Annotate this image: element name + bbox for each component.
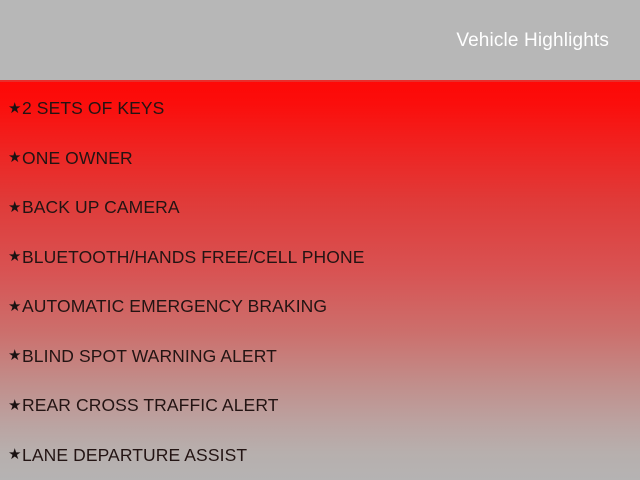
highlight-item-label: REAR CROSS TRAFFIC ALERT (22, 392, 279, 418)
highlight-item: ★ONE OWNER (0, 145, 133, 171)
highlight-item: ★BLUETOOTH/HANDS FREE/CELL PHONE (0, 244, 364, 270)
page-title: Vehicle Highlights (456, 29, 609, 53)
star-icon: ★ (0, 101, 22, 116)
highlight-item-label: ONE OWNER (22, 145, 133, 171)
star-icon: ★ (0, 249, 22, 264)
highlight-item-label: BLIND SPOT WARNING ALERT (22, 343, 277, 369)
highlight-item-label: AUTOMATIC EMERGENCY BRAKING (22, 293, 327, 319)
highlight-item: ★REAR CROSS TRAFFIC ALERT (0, 392, 279, 418)
star-icon: ★ (0, 348, 22, 363)
highlight-item-label: BACK UP CAMERA (22, 194, 180, 220)
star-icon: ★ (0, 200, 22, 215)
highlight-item: ★LANE DEPARTURE ASSIST (0, 442, 247, 468)
vehicle-highlights-slide: Vehicle Highlights ★2 SETS OF KEYS★ONE O… (0, 0, 640, 480)
highlight-item: ★BACK UP CAMERA (0, 194, 180, 220)
highlight-item-label: LANE DEPARTURE ASSIST (22, 442, 247, 468)
star-icon: ★ (0, 299, 22, 314)
highlight-item-label: BLUETOOTH/HANDS FREE/CELL PHONE (22, 244, 364, 270)
star-icon: ★ (0, 150, 22, 165)
highlight-item: ★2 SETS OF KEYS (0, 95, 164, 121)
highlight-item: ★AUTOMATIC EMERGENCY BRAKING (0, 293, 327, 319)
highlight-item: ★BLIND SPOT WARNING ALERT (0, 343, 277, 369)
header-band: Vehicle Highlights (0, 0, 640, 80)
highlight-item-label: 2 SETS OF KEYS (22, 95, 164, 121)
star-icon: ★ (0, 398, 22, 413)
highlights-list: ★2 SETS OF KEYS★ONE OWNER★BACK UP CAMERA… (0, 80, 640, 480)
star-icon: ★ (0, 447, 22, 462)
